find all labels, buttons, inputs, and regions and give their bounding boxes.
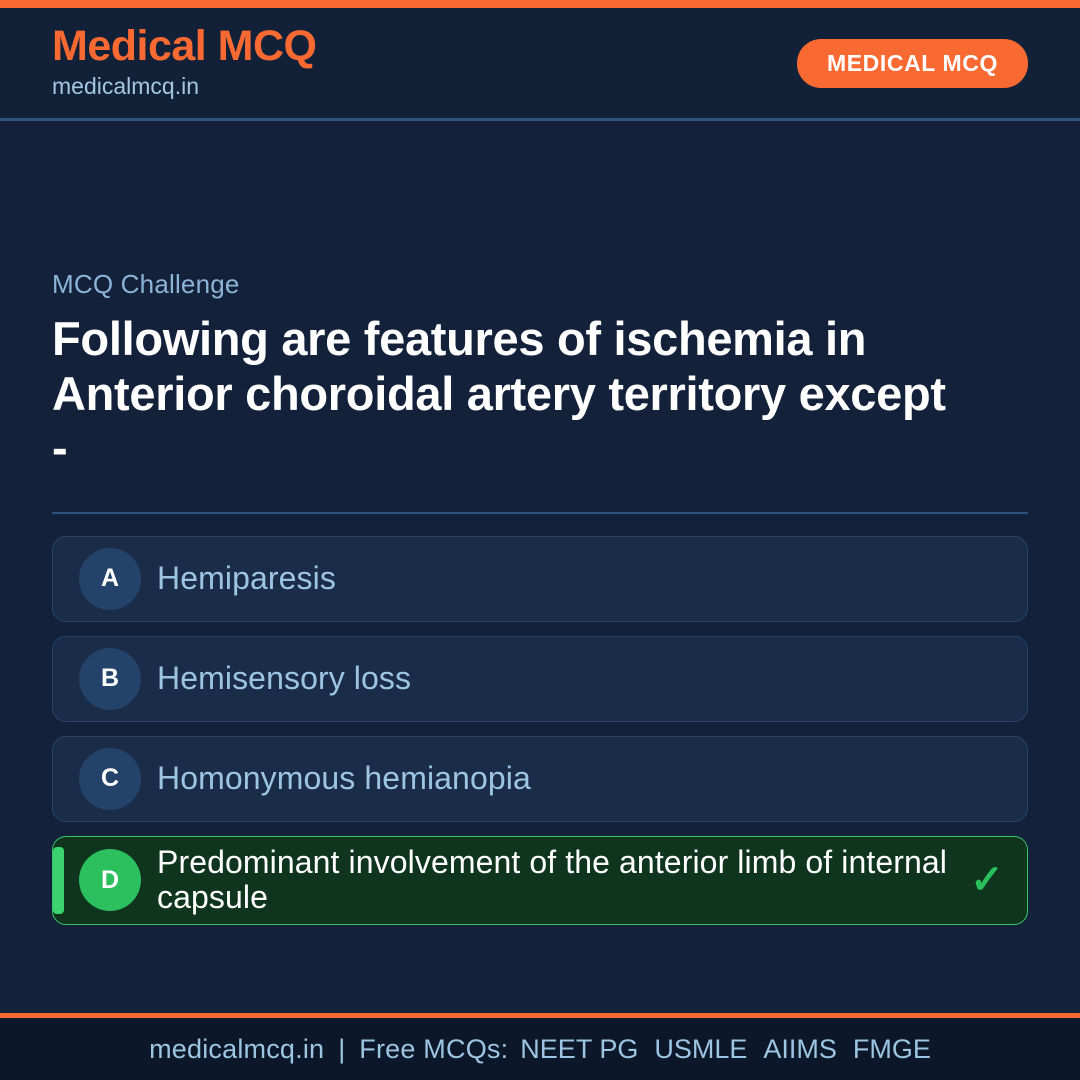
option-text: Predominant involvement of the anterior …	[157, 845, 965, 917]
header-badge: MEDICAL MCQ	[797, 39, 1028, 88]
footer-site[interactable]: medicalmcq.in	[149, 1034, 324, 1065]
option-letter-badge: A	[79, 548, 141, 610]
option-row-d[interactable]: D Predominant involvement of the anterio…	[52, 836, 1028, 926]
option-row-c[interactable]: C Homonymous hemianopia ✓	[52, 736, 1028, 822]
footer-tag-neet-pg[interactable]: NEET PG	[520, 1034, 638, 1065]
footer-label: Free MCQs:	[359, 1034, 508, 1065]
footer-tag-usmle[interactable]: USMLE	[654, 1034, 747, 1065]
eyebrow-label: MCQ Challenge	[52, 269, 1028, 300]
footer-tag-aiims[interactable]: AIIMS	[763, 1034, 837, 1065]
correct-accent-bar	[53, 847, 64, 915]
check-icon: ✓	[965, 857, 1009, 903]
question-text: Following are features of ischemia in An…	[52, 312, 952, 476]
footer-tags: NEET PG USMLE AIIMS FMGE	[520, 1034, 931, 1065]
top-accent-bar	[0, 0, 1080, 8]
footer-separator: |	[324, 1034, 359, 1065]
option-letter-badge: D	[79, 849, 141, 911]
section-divider	[52, 512, 1028, 514]
brand-subtitle: medicalmcq.in	[52, 72, 317, 102]
options-list: A Hemiparesis ✓ B Hemisensory loss ✓ C H…	[52, 536, 1028, 926]
brand: Medical MCQ medicalmcq.in	[52, 24, 317, 102]
brand-title: Medical MCQ	[52, 24, 317, 69]
mcq-card: Medical MCQ medicalmcq.in MEDICAL MCQ MC…	[0, 0, 1080, 1080]
option-row-b[interactable]: B Hemisensory loss ✓	[52, 636, 1028, 722]
option-letter-badge: C	[79, 748, 141, 810]
page-header: Medical MCQ medicalmcq.in MEDICAL MCQ	[0, 8, 1080, 121]
question-block: MCQ Challenge Following are features of …	[52, 269, 1028, 476]
option-row-a[interactable]: A Hemiparesis ✓	[52, 536, 1028, 622]
option-text: Hemiparesis	[157, 561, 965, 597]
option-text: Homonymous hemianopia	[157, 761, 965, 797]
main-content: MCQ Challenge Following are features of …	[0, 121, 1080, 1013]
page-footer: medicalmcq.in | Free MCQs: NEET PG USMLE…	[0, 1013, 1080, 1080]
option-letter-badge: B	[79, 648, 141, 710]
option-text: Hemisensory loss	[157, 661, 965, 697]
footer-tag-fmge[interactable]: FMGE	[853, 1034, 931, 1065]
